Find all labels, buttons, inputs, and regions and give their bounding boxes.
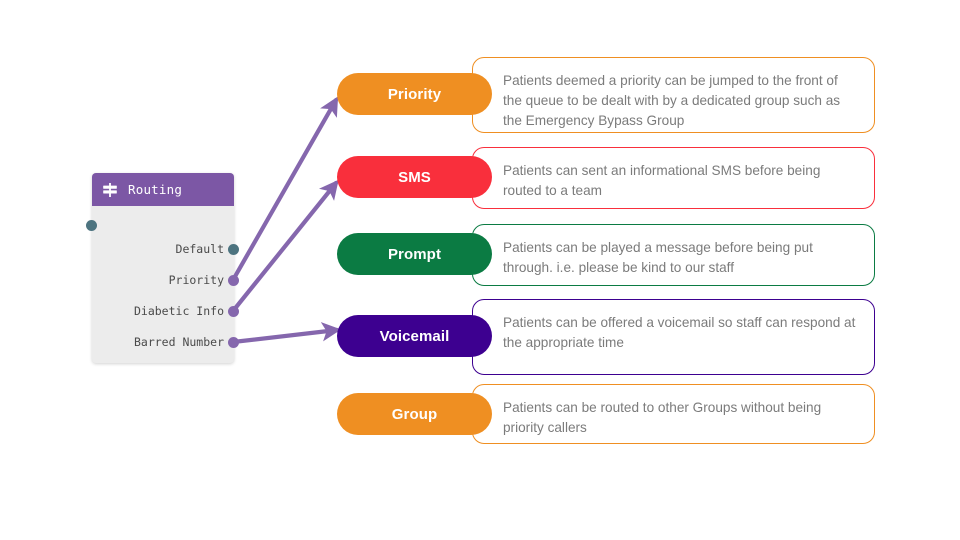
routing-node-title: Routing	[128, 182, 182, 197]
callout-priority-text: Patients deemed a priority can be jumped…	[503, 71, 858, 131]
signpost-icon	[102, 182, 118, 198]
routing-node-input-port[interactable]	[86, 220, 97, 231]
node-port-diabetic-info-label: Diabetic Info	[134, 304, 224, 318]
routing-node[interactable]: Routing Default Priority Diabetic Info B…	[92, 173, 234, 363]
pill-sms[interactable]: SMS	[337, 156, 492, 198]
node-port-priority-dot[interactable]	[228, 275, 239, 286]
pill-voicemail[interactable]: Voicemail	[337, 315, 492, 357]
pill-priority[interactable]: Priority	[337, 73, 492, 115]
pill-prompt-label: Prompt	[388, 246, 441, 263]
node-port-default-label: Default	[176, 242, 224, 256]
routing-node-header: Routing	[92, 173, 234, 206]
node-port-default[interactable]: Default	[176, 242, 224, 256]
node-port-barred-number-label: Barred Number	[134, 335, 224, 349]
callout-prompt: Patients can be played a message before …	[472, 224, 875, 286]
connector-priority	[233, 100, 336, 280]
node-port-priority-label: Priority	[169, 273, 224, 287]
node-port-barred-number[interactable]: Barred Number	[134, 335, 224, 349]
node-port-diabetic-info[interactable]: Diabetic Info	[134, 304, 224, 318]
pill-group-label: Group	[392, 406, 438, 423]
callout-sms: Patients can sent an informational SMS b…	[472, 147, 875, 209]
connector-diabetic-info	[233, 183, 336, 311]
diagram-canvas: Routing Default Priority Diabetic Info B…	[0, 0, 960, 540]
pill-voicemail-label: Voicemail	[380, 328, 450, 345]
pill-prompt[interactable]: Prompt	[337, 233, 492, 275]
node-port-default-dot[interactable]	[228, 244, 239, 255]
callout-group-text: Patients can be routed to other Groups w…	[503, 398, 858, 438]
pill-priority-label: Priority	[388, 86, 441, 103]
callout-sms-text: Patients can sent an informational SMS b…	[503, 161, 858, 201]
connector-barred-number	[233, 330, 337, 342]
node-port-barred-number-dot[interactable]	[228, 337, 239, 348]
callout-voicemail-text: Patients can be offered a voicemail so s…	[503, 313, 858, 353]
callout-voicemail: Patients can be offered a voicemail so s…	[472, 299, 875, 375]
pill-sms-label: SMS	[398, 169, 431, 186]
pill-group[interactable]: Group	[337, 393, 492, 435]
callout-group: Patients can be routed to other Groups w…	[472, 384, 875, 444]
node-port-priority[interactable]: Priority	[169, 273, 224, 287]
node-port-diabetic-info-dot[interactable]	[228, 306, 239, 317]
callout-prompt-text: Patients can be played a message before …	[503, 238, 858, 278]
callout-priority: Patients deemed a priority can be jumped…	[472, 57, 875, 133]
